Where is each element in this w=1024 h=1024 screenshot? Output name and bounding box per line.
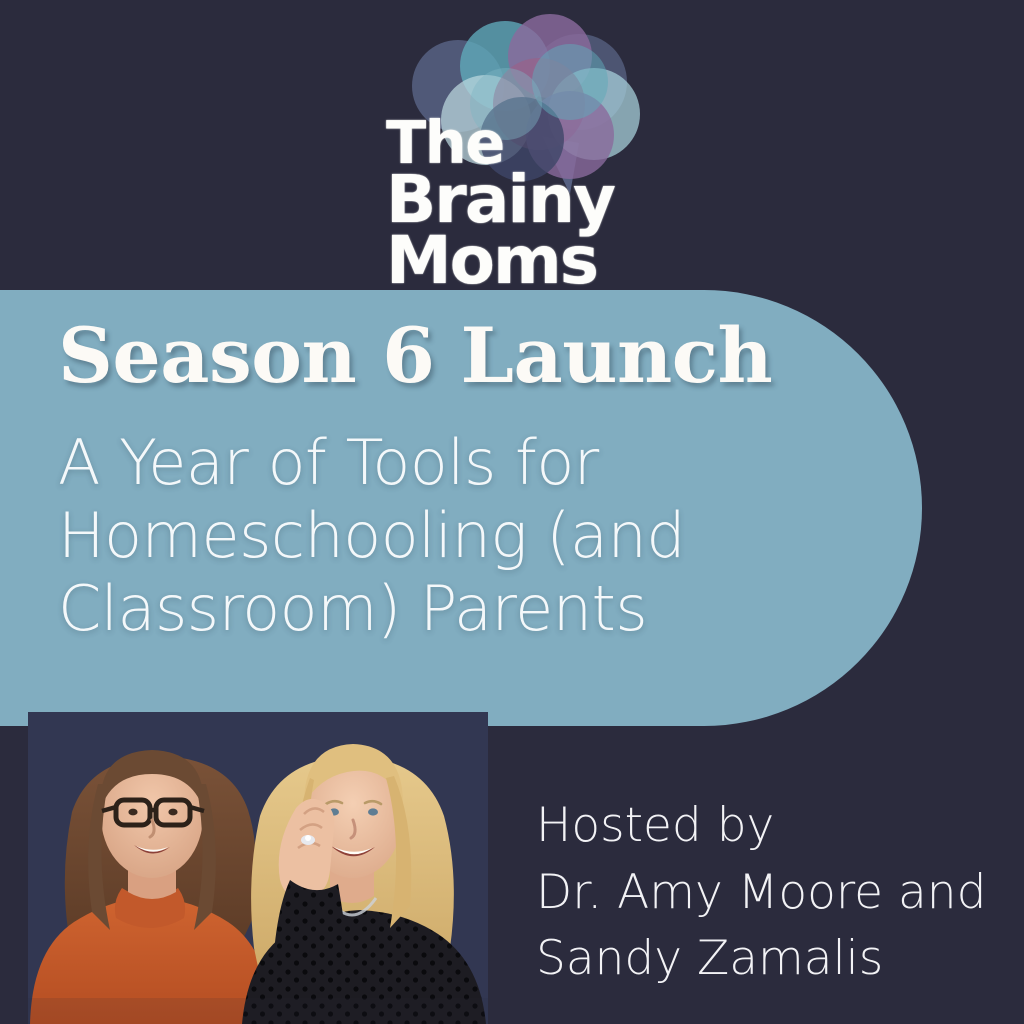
subtitle-line-3: Classroom) Parents xyxy=(58,572,818,645)
hosts-photo xyxy=(28,712,488,1024)
season-title: Season 6 Launch xyxy=(58,318,858,394)
subtitle-line-2: Homeschooling (and xyxy=(58,499,818,572)
wordmark-text: The Brainy Moms xyxy=(386,116,654,292)
podcast-cover-art: The Brainy Moms Season 6 Launch A Year o… xyxy=(0,0,1024,1024)
wordmark-line-3: Moms xyxy=(386,231,654,292)
episode-subtitle: A Year of Tools for Homeschooling (and C… xyxy=(58,426,818,645)
hosted-by-line-1: Hosted by xyxy=(536,793,1006,860)
hosted-by-line-2: Dr. Amy Moore and xyxy=(536,860,1006,927)
title-band-content: Season 6 Launch A Year of Tools for Home… xyxy=(0,290,880,726)
hosted-by-line-3: Sandy Zamalis xyxy=(536,926,1006,993)
brainy-moms-logo: The Brainy Moms xyxy=(374,8,654,296)
title-band: Season 6 Launch A Year of Tools for Home… xyxy=(0,290,922,726)
subtitle-line-1: A Year of Tools for xyxy=(58,426,818,499)
hosted-by-block: Hosted by Dr. Amy Moore and Sandy Zamali… xyxy=(536,793,1006,993)
